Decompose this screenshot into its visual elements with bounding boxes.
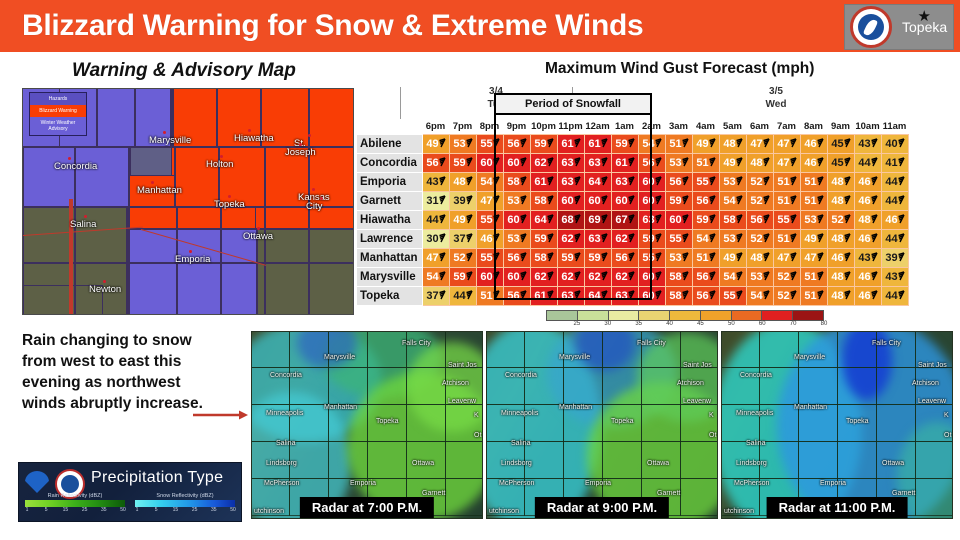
wind-barb-icon xyxy=(709,252,718,262)
gust-value: 48 xyxy=(831,195,843,207)
gust-value: 56 xyxy=(696,195,708,207)
gust-value: 53 xyxy=(669,157,681,169)
radar-city-label: Atchison xyxy=(912,380,939,387)
gust-value: 30 xyxy=(426,233,438,245)
radar-county-outline xyxy=(641,404,681,442)
gust-cell: 63 xyxy=(584,230,611,249)
radar-county-outline xyxy=(406,331,446,368)
map-city-dot xyxy=(228,195,231,198)
gust-value: 55 xyxy=(480,138,492,150)
reflectivity-tick-label: 25 xyxy=(192,507,198,513)
radar-county-outline xyxy=(798,367,838,405)
wind-barb-icon xyxy=(709,176,718,186)
gust-cell: 48 xyxy=(746,249,773,268)
gust-cell: 46 xyxy=(854,192,881,211)
wind-barb-icon xyxy=(736,214,745,224)
radar-city-label: McPherson xyxy=(264,480,299,487)
hour-header-cell: 4am xyxy=(692,119,719,135)
gust-value: 56 xyxy=(507,138,519,150)
gust-value: 53 xyxy=(804,214,816,226)
gust-cell: 54 xyxy=(746,287,773,306)
radar-city-label: Ottawa xyxy=(412,460,434,467)
divider xyxy=(400,87,401,119)
gust-value: 47 xyxy=(777,252,789,264)
wind-barb-icon xyxy=(628,195,637,205)
radar-county-outline xyxy=(876,331,916,368)
gust-value: 54 xyxy=(642,138,654,150)
gust-value: 60 xyxy=(507,214,519,226)
wind-barb-icon xyxy=(898,195,907,205)
gust-value: 63 xyxy=(588,233,600,245)
gust-cell: 46 xyxy=(854,230,881,249)
wind-barb-icon xyxy=(790,290,799,300)
gust-value: 54 xyxy=(696,233,708,245)
wind-barb-icon xyxy=(655,252,664,262)
reflectivity-tick-label: 25 xyxy=(82,507,88,513)
gust-value: 49 xyxy=(804,233,816,245)
gust-value: 59 xyxy=(534,138,546,150)
gust-value: 49 xyxy=(453,214,465,226)
map-city-label: City xyxy=(306,202,322,212)
wind-barb-icon xyxy=(871,290,880,300)
wind-barb-icon xyxy=(844,290,853,300)
radar-county-outline xyxy=(328,367,368,405)
wind-barb-icon xyxy=(628,271,637,281)
gust-cell: 44 xyxy=(881,173,908,192)
hour-header-cell: 9pm xyxy=(503,119,530,135)
wind-barb-icon xyxy=(547,214,556,224)
gust-cell: 49 xyxy=(719,249,746,268)
gust-value: 53 xyxy=(507,195,519,207)
wind-barb-icon xyxy=(763,214,772,224)
gust-cell: 59 xyxy=(692,211,719,230)
city-label-cell: Topeka xyxy=(357,287,423,306)
wind-barb-icon xyxy=(574,290,583,300)
map-city-label: Concordia xyxy=(54,162,97,172)
gust-value: 44 xyxy=(885,195,897,207)
radar-city-label: Emporia xyxy=(350,480,376,487)
city-label-cell: Concordia xyxy=(357,154,423,173)
wind-barb-icon xyxy=(898,252,907,262)
gust-value: 54 xyxy=(723,271,735,283)
hour-header-cell: 5am xyxy=(719,119,746,135)
radar-city-label: Saint Jos xyxy=(448,362,477,369)
scale-tick-label: 25 xyxy=(574,321,581,327)
wind-barb-icon xyxy=(898,271,907,281)
wind-barb-icon xyxy=(520,233,529,243)
wind-barb-icon xyxy=(655,214,664,224)
wind-barb-icon xyxy=(736,252,745,262)
gust-value: 48 xyxy=(858,214,870,226)
wind-barb-icon xyxy=(736,195,745,205)
scale-segment xyxy=(547,311,578,320)
wind-barb-icon xyxy=(547,252,556,262)
table-row: Manhattan4752555658595956555351494847474… xyxy=(357,249,909,268)
gust-value: 46 xyxy=(804,157,816,169)
map-city-dot xyxy=(257,227,260,230)
gust-cell: 62 xyxy=(584,268,611,287)
gust-value: 52 xyxy=(453,252,465,264)
hour-header-cell: 10pm xyxy=(530,119,557,135)
gust-cell: 52 xyxy=(746,192,773,211)
wind-barb-icon xyxy=(547,290,556,300)
gust-value: 51 xyxy=(777,195,789,207)
scale-tick-labels: 253035404550607080 xyxy=(546,321,824,331)
radar-city-label: Minneapolis xyxy=(736,410,773,417)
radar-city-label: McPherson xyxy=(734,480,769,487)
wind-barb-icon xyxy=(871,271,880,281)
gust-cell: 56 xyxy=(692,192,719,211)
radar-county-outline xyxy=(406,367,446,405)
hour-header-cell: 7am xyxy=(773,119,800,135)
gust-value: 52 xyxy=(777,290,789,302)
wind-barb-icon xyxy=(898,157,907,167)
gust-cell: 68 xyxy=(557,211,584,230)
gust-value: 47 xyxy=(480,195,492,207)
radar-county-outline xyxy=(721,331,760,368)
wind-barb-icon xyxy=(520,271,529,281)
gust-cell: 43 xyxy=(854,249,881,268)
radar-county-outline xyxy=(837,331,877,368)
gust-value: 59 xyxy=(534,233,546,245)
scale-segment xyxy=(609,311,640,320)
star-icon: ★ xyxy=(918,7,931,25)
gust-value: 58 xyxy=(669,290,681,302)
gust-cell: 60 xyxy=(665,211,692,230)
gust-cell: 43 xyxy=(881,268,908,287)
wind-barb-icon xyxy=(655,157,664,167)
wind-barb-icon xyxy=(439,271,448,281)
wind-barb-icon xyxy=(844,271,853,281)
gust-value: 45 xyxy=(831,138,843,150)
hour-header-cell: 10am xyxy=(854,119,881,135)
gust-cell: 56 xyxy=(665,173,692,192)
map-city-label: Hiawatha xyxy=(234,134,274,144)
gust-cell: 44 xyxy=(881,230,908,249)
wind-barb-icon xyxy=(439,176,448,186)
wind-barb-icon xyxy=(520,138,529,148)
wind-barb-icon xyxy=(763,195,772,205)
radar-city-label: K xyxy=(709,412,714,419)
map-city-dot xyxy=(189,250,192,253)
wind-barb-icon xyxy=(817,176,826,186)
gust-value: 56 xyxy=(426,157,438,169)
hour-header-cell: 1am xyxy=(611,119,638,135)
gust-cell: 59 xyxy=(557,249,584,268)
wind-barb-icon xyxy=(790,195,799,205)
gust-cell: 51 xyxy=(773,173,800,192)
gust-cell: 54 xyxy=(476,173,503,192)
gust-value: 62 xyxy=(534,157,546,169)
gust-cell: 51 xyxy=(800,173,827,192)
gust-cell: 47 xyxy=(800,249,827,268)
gust-cell: 52 xyxy=(827,211,854,230)
gust-cell: 56 xyxy=(503,249,530,268)
gust-value: 51 xyxy=(480,290,492,302)
gust-value: 54 xyxy=(426,271,438,283)
city-label-cell: Marysville xyxy=(357,268,423,287)
gust-value: 40 xyxy=(885,138,897,150)
gust-cell: 47 xyxy=(773,249,800,268)
gust-cell: 55 xyxy=(665,230,692,249)
wind-barb-icon xyxy=(601,176,610,186)
map-city-dot xyxy=(312,188,315,191)
county-outline xyxy=(97,88,135,147)
wind-barb-icon xyxy=(601,290,610,300)
wind-barb-icon xyxy=(763,157,772,167)
wind-barb-icon xyxy=(574,252,583,262)
gust-value: 60 xyxy=(642,271,654,283)
gust-value: 58 xyxy=(534,252,546,264)
wind-barb-icon xyxy=(493,214,502,224)
radar-panel-9pm: Falls CityMarysvilleConcordiaSaint JosAt… xyxy=(486,331,718,519)
city-label-cell: Hiawatha xyxy=(357,211,423,230)
radar-county-outline xyxy=(602,331,642,368)
hour-header-row: 6pm7pm8pm9pm10pm11pm12am1am2am3am4am5am6… xyxy=(357,119,909,135)
gust-cell: 47 xyxy=(773,135,800,154)
wind-barb-icon xyxy=(871,252,880,262)
wind-barb-icon xyxy=(547,233,556,243)
scale-segment xyxy=(793,311,823,320)
scale-tick-label: 70 xyxy=(790,321,797,327)
wind-barb-icon xyxy=(736,138,745,148)
county-outline xyxy=(23,263,75,315)
radar-caption: Radar at 9:00 P.M. xyxy=(535,497,669,518)
radar-city-label: Garnett xyxy=(422,490,445,497)
scale-tick-label: 35 xyxy=(635,321,642,327)
gust-value: 61 xyxy=(588,138,600,150)
radar-city-label: Topeka xyxy=(376,418,399,425)
gust-value: 53 xyxy=(507,233,519,245)
wind-barb-icon xyxy=(601,195,610,205)
radar-county-outline xyxy=(563,331,603,368)
wind-barb-icon xyxy=(466,271,475,281)
radar-city-label: Lindsborg xyxy=(736,460,767,467)
gust-value: 51 xyxy=(696,252,708,264)
snow-scale-label: Snow Reflectivity (dBZ) xyxy=(135,493,235,499)
wind-barb-icon xyxy=(628,252,637,262)
map-city-dot xyxy=(163,131,166,134)
gust-value: 44 xyxy=(885,290,897,302)
gust-value: 60 xyxy=(507,157,519,169)
gust-value: 56 xyxy=(507,252,519,264)
wind-barb-icon xyxy=(790,271,799,281)
gust-value: 53 xyxy=(723,176,735,188)
radar-city-label: Salina xyxy=(746,440,765,447)
table-row: Topeka3744515661636463605856555452514846… xyxy=(357,287,909,306)
gust-cell: 63 xyxy=(557,287,584,306)
reflectivity-tick-label: 50 xyxy=(120,507,126,513)
gust-cell: 51 xyxy=(800,192,827,211)
gust-cell: 48 xyxy=(449,173,476,192)
gust-value: 44 xyxy=(885,176,897,188)
wind-barb-icon xyxy=(682,233,691,243)
gust-value: 46 xyxy=(858,195,870,207)
gust-cell: 51 xyxy=(773,230,800,249)
gust-value: 46 xyxy=(858,290,870,302)
gust-value: 63 xyxy=(615,176,627,188)
gust-cell: 60 xyxy=(584,192,611,211)
scale-tick-label: 45 xyxy=(697,321,704,327)
snow-reflectivity-scale: Snow Reflectivity (dBZ) 1515253550 xyxy=(135,493,235,515)
gust-cell: 53 xyxy=(719,173,746,192)
gust-cell: 67 xyxy=(611,211,638,230)
gust-cell: 59 xyxy=(449,154,476,173)
wind-barb-icon xyxy=(682,138,691,148)
gust-value: 55 xyxy=(642,252,654,264)
reflectivity-tick-label: 50 xyxy=(230,507,236,513)
gust-value: 59 xyxy=(615,138,627,150)
gust-cell: 59 xyxy=(638,230,665,249)
radar-city-label: Manhattan xyxy=(324,404,357,411)
gust-value: 49 xyxy=(426,138,438,150)
gust-value: 44 xyxy=(426,214,438,226)
gust-value: 47 xyxy=(750,138,762,150)
radar-city-label: utchinson xyxy=(724,508,754,515)
hour-header-cell: 12am xyxy=(584,119,611,135)
gust-cell: 63 xyxy=(557,154,584,173)
county-outline xyxy=(23,147,75,207)
gust-cell: 55 xyxy=(476,211,503,230)
gust-value: 55 xyxy=(777,214,789,226)
gust-grid: 6pm7pm8pm9pm10pm11pm12am1am2am3am4am5am6… xyxy=(356,119,909,306)
radar-city-label: Lindsborg xyxy=(501,460,532,467)
gust-cell: 52 xyxy=(746,173,773,192)
wind-barb-icon xyxy=(736,271,745,281)
gust-value: 47 xyxy=(426,252,438,264)
city-label-cell: Lawrence xyxy=(357,230,423,249)
gust-value: 60 xyxy=(480,157,492,169)
gust-cell: 45 xyxy=(827,135,854,154)
wind-barb-icon xyxy=(817,290,826,300)
radar-panel-7pm: Falls CityMarysvilleConcordiaSaint JosAt… xyxy=(251,331,483,519)
wind-barb-icon xyxy=(520,214,529,224)
gust-value: 60 xyxy=(642,290,654,302)
wind-barb-icon xyxy=(817,138,826,148)
wind-barb-icon xyxy=(520,195,529,205)
wind-barb-icon xyxy=(763,138,772,148)
county-outline xyxy=(75,147,129,207)
county-outline xyxy=(177,263,221,315)
radar-city-label: K xyxy=(474,412,479,419)
radar-city-label: utchinson xyxy=(254,508,284,515)
radar-city-label: Falls City xyxy=(637,340,666,347)
wind-barb-icon xyxy=(682,157,691,167)
radar-county-outline xyxy=(367,331,407,368)
gust-value: 63 xyxy=(588,157,600,169)
hour-header-cell: 2am xyxy=(638,119,665,135)
gust-value: 63 xyxy=(561,176,573,188)
wind-barb-icon xyxy=(871,176,880,186)
city-label-cell: Garnett xyxy=(357,192,423,211)
header-banner: Blizzard Warning for Snow & Extreme Wind… xyxy=(0,0,960,52)
gust-cell: 61 xyxy=(611,154,638,173)
map-city-label: Manhattan xyxy=(137,186,182,196)
wind-barb-icon xyxy=(493,290,502,300)
snow-scale-ticks: 1515253550 xyxy=(135,507,235,515)
gust-value: 68 xyxy=(561,214,573,226)
wind-barb-icon xyxy=(817,195,826,205)
gust-cell: 53 xyxy=(503,230,530,249)
radar-city-label: Emporia xyxy=(585,480,611,487)
wind-barb-icon xyxy=(763,252,772,262)
gust-cell: 46 xyxy=(800,154,827,173)
rain-scale-bar xyxy=(25,500,125,507)
radar-city-label: Marysville xyxy=(324,354,355,361)
gust-cell: 47 xyxy=(746,135,773,154)
gust-value: 48 xyxy=(750,252,762,264)
gust-value: 44 xyxy=(453,290,465,302)
wind-barb-icon xyxy=(466,157,475,167)
wind-barb-icon xyxy=(736,290,745,300)
gust-value: 60 xyxy=(561,195,573,207)
gust-cell: 60 xyxy=(611,192,638,211)
arrow-icon xyxy=(193,410,248,420)
gust-value: 46 xyxy=(858,233,870,245)
wind-barb-icon xyxy=(547,195,556,205)
radar-city-label: Salina xyxy=(511,440,530,447)
wind-barb-icon xyxy=(574,138,583,148)
gust-value: 64 xyxy=(534,214,546,226)
radar-city-label: Minneapolis xyxy=(266,410,303,417)
gust-cell: 49 xyxy=(422,135,449,154)
wind-barb-icon xyxy=(601,252,610,262)
wind-barb-icon xyxy=(574,157,583,167)
wind-barb-icon xyxy=(628,138,637,148)
radar-county-outline xyxy=(524,331,564,368)
wind-barb-icon xyxy=(655,176,664,186)
gust-value: 46 xyxy=(480,233,492,245)
gust-cell: 56 xyxy=(503,287,530,306)
wind-barb-icon xyxy=(655,138,664,148)
gust-value: 51 xyxy=(804,176,816,188)
gust-value: 44 xyxy=(885,233,897,245)
gust-cell: 46 xyxy=(854,287,881,306)
gust-cell: 45 xyxy=(827,154,854,173)
wind-barb-icon xyxy=(898,138,907,148)
wind-barb-icon xyxy=(466,176,475,186)
gust-cell: 59 xyxy=(530,230,557,249)
radar-city-label: Salina xyxy=(276,440,295,447)
gust-value: 53 xyxy=(669,252,681,264)
gust-value: 54 xyxy=(723,195,735,207)
forecast-blurb: Rain changing to snow from west to east … xyxy=(22,330,227,414)
county-outline xyxy=(309,263,354,315)
map-city-dot xyxy=(103,280,106,283)
gust-cell: 44 xyxy=(449,287,476,306)
gust-cell: 31 xyxy=(422,192,449,211)
radar-city-label: Concordia xyxy=(505,372,537,379)
gust-cell: 56 xyxy=(638,154,665,173)
gust-value: 37 xyxy=(453,233,465,245)
gust-rows: Abilene495355565961615954514948474746454… xyxy=(357,135,909,306)
radar-county-outline xyxy=(602,367,642,405)
gust-cell: 48 xyxy=(854,211,881,230)
radar-city-label: Ottawa xyxy=(647,460,669,467)
wind-barb-icon xyxy=(493,271,502,281)
gust-cell: 56 xyxy=(503,135,530,154)
rain-scale-label: Rain Reflectivity (dBZ) xyxy=(25,493,125,499)
radar-county-outline xyxy=(328,331,368,368)
gust-cell: 64 xyxy=(530,211,557,230)
gust-value: 58 xyxy=(669,271,681,283)
map-city-dot xyxy=(84,215,87,218)
wind-barb-icon xyxy=(844,233,853,243)
gust-cell: 48 xyxy=(827,268,854,287)
radar-county-outline xyxy=(680,478,718,516)
wind-barb-icon xyxy=(466,195,475,205)
wind-barb-icon xyxy=(817,214,826,224)
